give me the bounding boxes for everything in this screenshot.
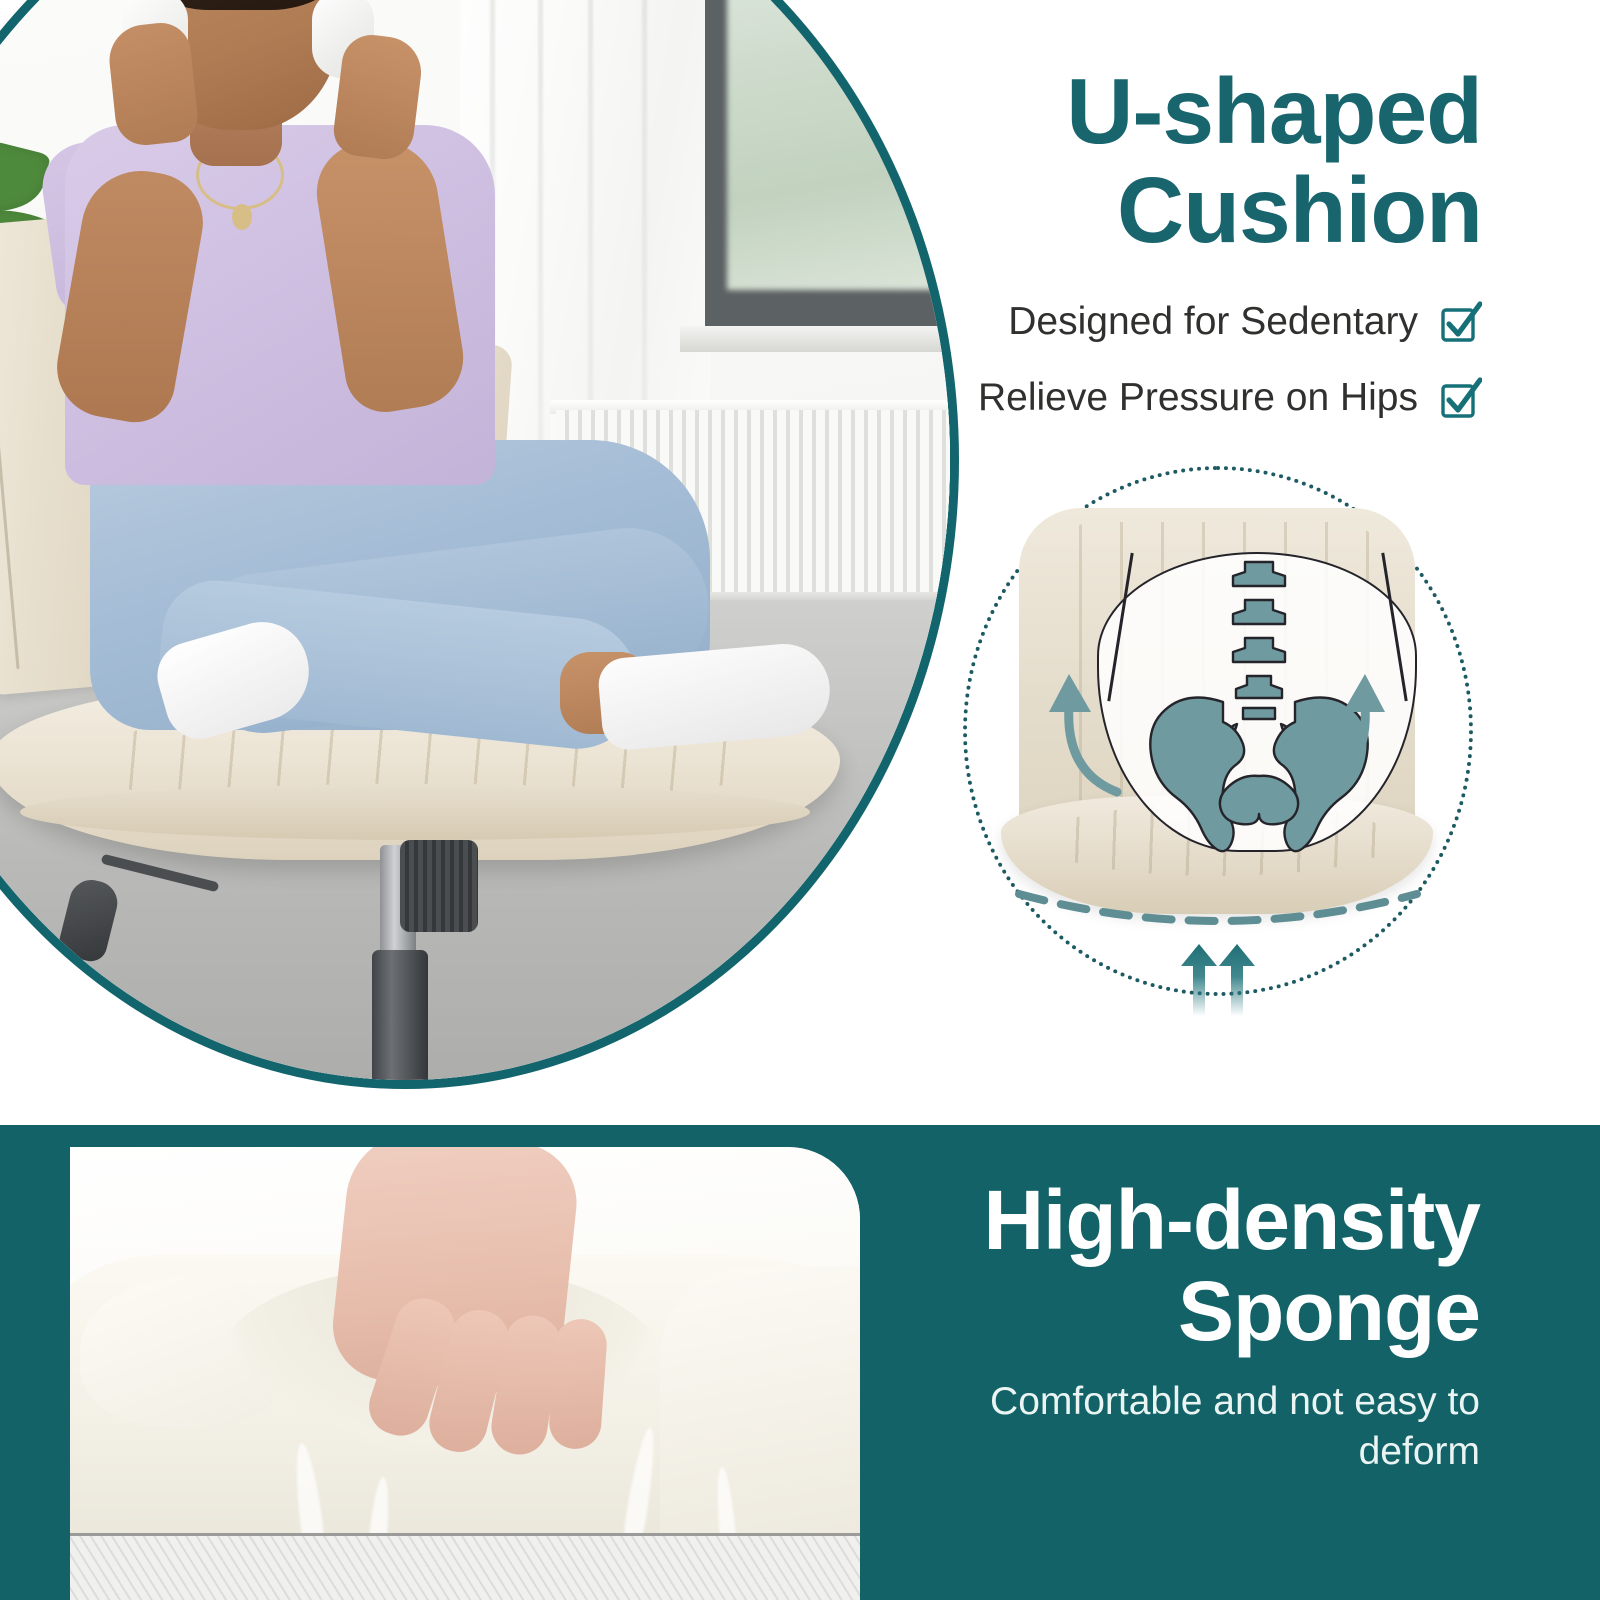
hand: [106, 20, 200, 148]
rotation-arrow-left-icon: [1047, 660, 1133, 800]
upward-pressure-arrows-icon: [1163, 944, 1273, 1016]
gas-lift-cylinder: [372, 950, 428, 1080]
checkbox-checked-icon: [1440, 377, 1482, 419]
bottom-title-line-2: Sponge: [1178, 1264, 1480, 1358]
bottom-subtitle: Comfortable and not easy to deform: [880, 1377, 1480, 1477]
headline-line-1: U-shaped: [1066, 59, 1482, 163]
rotation-arrow-right-icon: [1301, 660, 1387, 800]
feature-bullet-2-label: Relieve Pressure on Hips: [978, 376, 1418, 420]
checkbox-checked-icon: [1440, 301, 1482, 343]
support-curve-dashed-line: [1015, 884, 1421, 944]
bottom-title-line-1: High-density: [983, 1173, 1480, 1267]
mesh-base-layer: [70, 1533, 860, 1600]
headline-line-2: Cushion: [1117, 158, 1482, 262]
gas-lift-knob: [400, 840, 478, 932]
infographic-page: U-shaped Cushion Designed for Sedentary …: [0, 0, 1600, 1600]
feature-bullet-2: Relieve Pressure on Hips: [978, 376, 1482, 420]
bottom-section: High-density Sponge Comfortable and not …: [0, 1125, 1600, 1600]
foam-press-photo: [70, 1147, 860, 1600]
bottom-title: High-density Sponge: [800, 1175, 1480, 1356]
pelvis-support-diagram: [963, 466, 1473, 996]
top-section: U-shaped Cushion Designed for Sedentary …: [0, 0, 1600, 1105]
window-sill: [680, 326, 950, 352]
diagram-cushion: [1001, 508, 1433, 908]
feature-bullet-1-label: Designed for Sedentary: [1008, 300, 1418, 344]
feature-bullet-1: Designed for Sedentary: [1008, 300, 1482, 344]
page-title: U-shaped Cushion: [762, 62, 1482, 259]
